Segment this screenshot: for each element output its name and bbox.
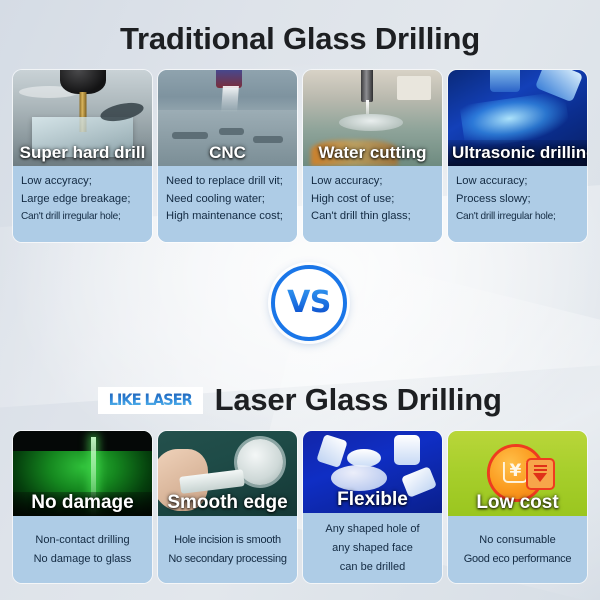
card-line: any shaped face [311, 539, 434, 558]
card-line: No damage to glass [21, 550, 144, 569]
card-line: Any shaped hole of [311, 520, 434, 539]
cnc-photo: CNC [158, 70, 297, 166]
glass-shape [394, 435, 420, 465]
water-box [397, 76, 431, 100]
card-line: Process slowy; [456, 191, 579, 209]
laser-card-row: No damage Non-contact drilling No damage… [13, 431, 587, 583]
drill-photo: Super hard drill [13, 70, 152, 166]
card-line: Large edge breakage; [21, 191, 144, 209]
arrow-line [534, 465, 547, 467]
green-top-bar [13, 431, 152, 451]
glass-shape [331, 465, 387, 491]
laser-section-title-row: LIKE LASER Laser Glass Drilling [0, 379, 600, 421]
card-line: Good eco performance [456, 550, 579, 569]
laser-section-title: Laser Glass Drilling [215, 380, 502, 420]
card-label: Smooth edge [158, 492, 297, 516]
card-line: No secondary processing [166, 550, 289, 569]
card-line: No consumable [456, 531, 579, 550]
arrow-head [533, 473, 547, 482]
card-no-damage[interactable]: No damage Non-contact drilling No damage… [13, 431, 152, 583]
card-line: Can't drill irregular hole; [456, 208, 579, 226]
card-body: Low accyracy; Large edge breakage; Can't… [13, 166, 152, 242]
traditional-card-row: Super hard drill Low accyracy; Large edg… [13, 70, 587, 242]
cnc-slot [172, 132, 208, 139]
vs-label: VS [287, 288, 331, 318]
card-label: Super hard drill [13, 142, 152, 166]
green-laser-photo: No damage [13, 431, 152, 516]
card-label: Low cost [448, 492, 587, 516]
flexible-glass-photo: Flexible [303, 431, 442, 513]
traditional-section-title: Traditional Glass Drilling [0, 19, 600, 59]
card-line: High maintenance cost; [166, 208, 289, 226]
card-body: Hole incision is smooth No secondary pro… [158, 516, 297, 583]
card-line: can be drilled [311, 558, 434, 577]
card-ultrasonic-drilling[interactable]: Ultrasonic drilling Low accuracy; Proces… [448, 70, 587, 242]
card-line: Low accuracy; [311, 173, 434, 191]
card-line: Need to replace drill vit; [166, 173, 289, 191]
card-body: Non-contact drilling No damage to glass [13, 516, 152, 583]
yen-icon: ¥ [502, 462, 528, 483]
water-cutting-photo: Water cutting [303, 70, 442, 166]
card-smooth-edge[interactable]: Smooth edge Hole incision is smooth No s… [158, 431, 297, 583]
arrow-line [534, 469, 547, 471]
card-line: Can't drill irregular hole; [21, 208, 144, 226]
vs-badge: VS [271, 265, 347, 341]
brand-logo-text: LIKE LASER [109, 392, 192, 408]
drilled-hole-disc [237, 439, 283, 485]
card-line: Low accyracy; [21, 173, 144, 191]
card-body: No consumable Good eco performance [448, 516, 587, 583]
infographic-poster: Traditional Glass Drilling Super hard dr… [0, 0, 600, 600]
like-laser-logo: LIKE LASER [98, 387, 202, 414]
card-label: Water cutting [303, 142, 442, 166]
card-label: No damage [13, 492, 152, 516]
card-label: CNC [158, 142, 297, 166]
smooth-edge-photo: Smooth edge [158, 431, 297, 516]
card-water-cutting[interactable]: Water cutting Low accuracy; High cost of… [303, 70, 442, 242]
ultrasonic-photo: Ultrasonic drilling [448, 70, 587, 166]
card-body: Low accuracy; Process slowy; Can't drill… [448, 166, 587, 242]
glass-shape [316, 434, 347, 468]
drill-bit-head-icon [60, 70, 106, 94]
card-label: Ultrasonic drilling [448, 142, 587, 166]
card-line: Low accuracy; [456, 173, 579, 191]
card-body: Any shaped hole of any shaped face can b… [303, 513, 442, 583]
card-low-cost[interactable]: ¥ Low cost No consumable Good eco perfor… [448, 431, 587, 583]
cnc-slot [219, 128, 244, 135]
card-line: Can't drill thin glass; [311, 208, 434, 226]
glass-disc [339, 114, 403, 131]
card-line: Hole incision is smooth [166, 531, 289, 550]
water-nozzle-icon [361, 70, 373, 102]
card-line: High cost of use; [311, 191, 434, 209]
low-cost-icon: ¥ Low cost [448, 431, 587, 516]
card-body: Low accuracy; High cost of use; Can't dr… [303, 166, 442, 242]
card-super-hard-drill[interactable]: Super hard drill Low accyracy; Large edg… [13, 70, 152, 242]
cnc-spray [221, 86, 239, 112]
cost-down-arrow-icon [528, 460, 553, 488]
card-label: Flexible [303, 489, 442, 513]
card-line: Non-contact drilling [21, 531, 144, 550]
card-line: Need cooling water; [166, 191, 289, 209]
card-flexible[interactable]: Flexible Any shaped hole of any shaped f… [303, 431, 442, 583]
card-body: Need to replace drill vit; Need cooling … [158, 166, 297, 242]
card-cnc[interactable]: CNC Need to replace drill vit; Need cool… [158, 70, 297, 242]
ultrasonic-tool-icon [490, 70, 520, 92]
